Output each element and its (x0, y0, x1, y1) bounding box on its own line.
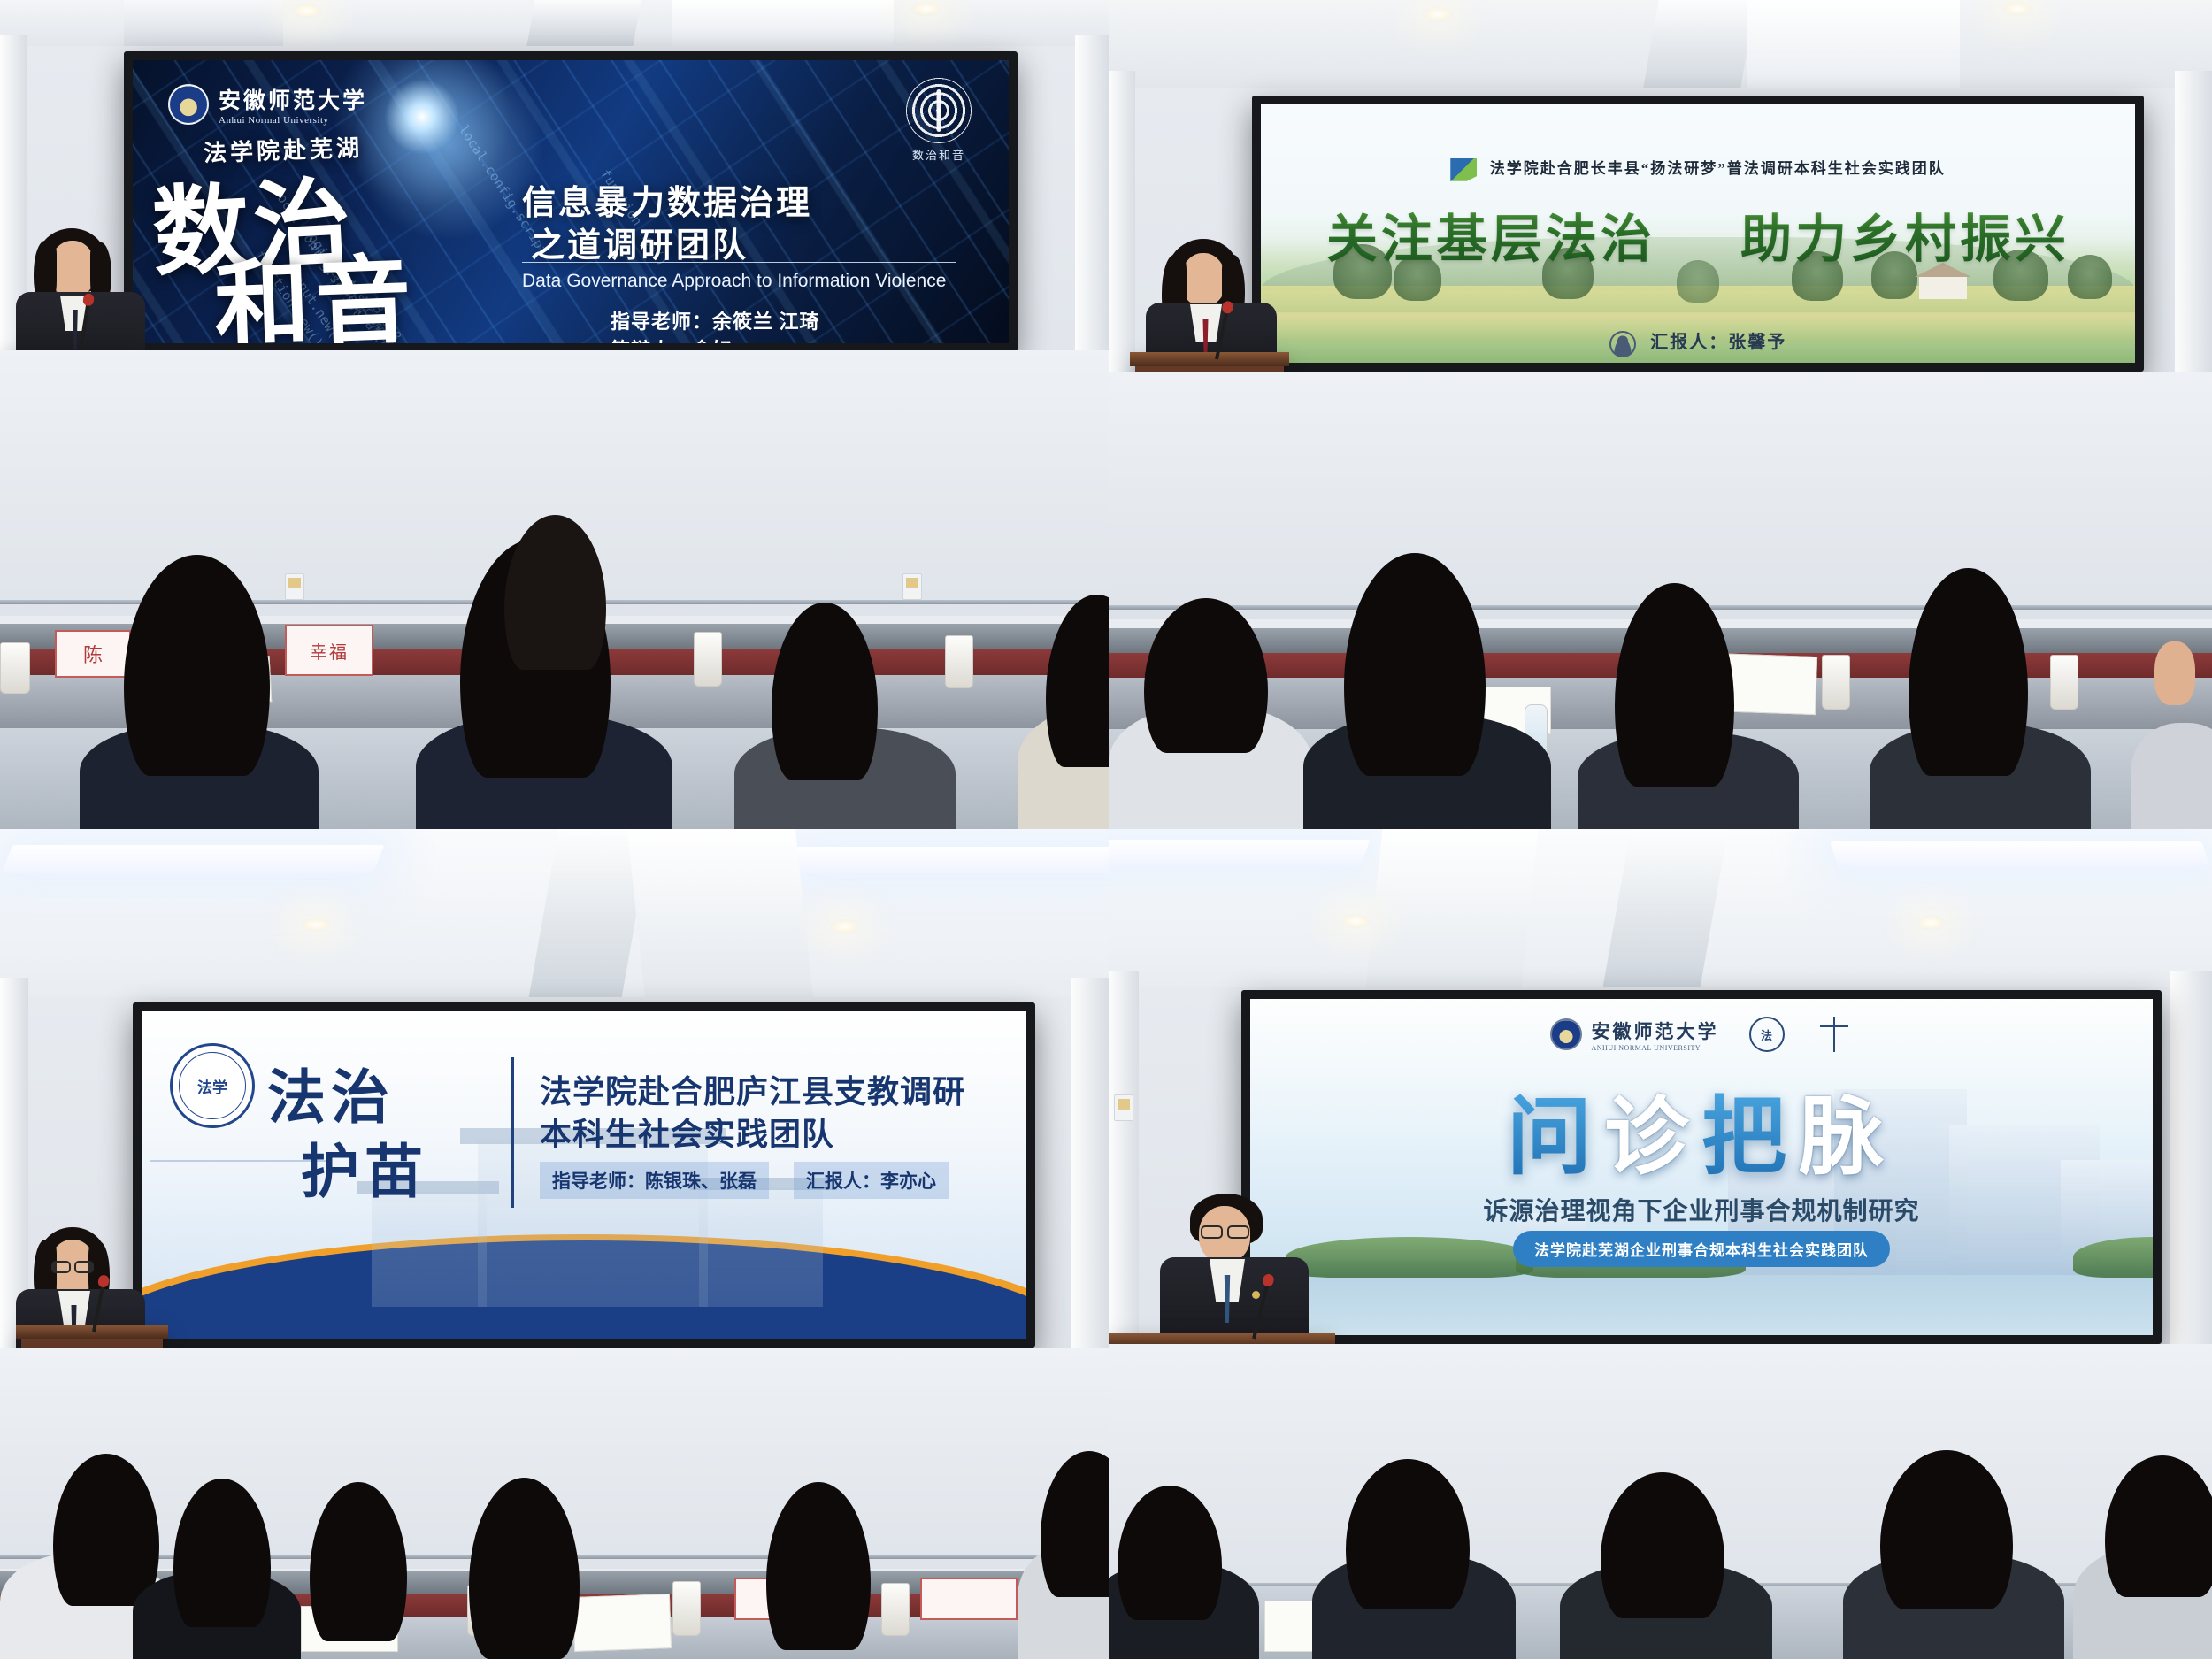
slide-data-governance: local.config.script login.credential.get… (133, 60, 1009, 343)
audience-head (1880, 1450, 2013, 1609)
screen-bezel (1250, 990, 2153, 999)
ceiling-beam-left (124, 0, 283, 46)
glasses-icon (1227, 1225, 1249, 1239)
slide-legal-protection: 法学 法治 护苗 法学院赴合肥庐江县支教调研 本科生社会实践团队 指导老师：陈银… (142, 1011, 1026, 1339)
glasses-icon (51, 1261, 71, 1273)
audience-shoulders (2131, 723, 2212, 829)
panel-top-right: Student presenting at podium in front of… (1109, 0, 2212, 829)
downlight-icon (1916, 916, 1946, 930)
slide-presenter: 答辩人：俞好 (611, 334, 733, 352)
glasses-icon (1201, 1225, 1223, 1239)
presentation-screen: 安徽师范大学 ANHUI NORMAL UNIVERSITY 法 问诊把脉 诉源… (1241, 990, 2162, 1344)
ceiling-beam-right (1747, 0, 1960, 96)
slide-logo-row: 安徽师范大学 ANHUI NORMAL UNIVERSITY 法 (1250, 1015, 2153, 1054)
ceiling-beam-right (627, 829, 813, 999)
law-school-seal-icon: 法学 (170, 1043, 255, 1128)
program-logo: 数治和音 (906, 78, 972, 163)
team-flag-icon (1450, 158, 1477, 181)
ceiling-light-panel (1830, 841, 2210, 868)
audience-row (0, 564, 1109, 829)
slide-advisor: 指导老师：陈银珠、张磊 (540, 1162, 769, 1199)
audience-row (0, 1429, 1109, 1659)
slide-hero-char-2: 诊 (1604, 1087, 1701, 1187)
downlight-icon (830, 919, 860, 933)
glasses-icon (74, 1261, 94, 1273)
university-name-en: Anhui Normal University (219, 115, 367, 126)
ceiling-beam-center (526, 0, 641, 46)
raised-hand (2154, 641, 2195, 705)
audience-row (1109, 1447, 2212, 1659)
slide-team-chip: 法学院赴芜湖企业刑事合规本科生社会实践团队 (1513, 1231, 1890, 1267)
audience-head (1615, 583, 1734, 787)
screen-bezel (133, 51, 1009, 60)
screen-bezel (1261, 96, 2135, 104)
university-name-cn: 安徽师范大学 (219, 83, 367, 115)
slide-subject-line-2: 之道调研团队 (531, 218, 749, 266)
panel-top-left: Student presenting at podium in front of… (0, 0, 1109, 829)
ceiling-beam-left (1366, 829, 1539, 988)
slide-subtitle: 诉源治理视角下企业刑事合规机制研究 (1250, 1192, 2153, 1227)
slide-compliance-research: 安徽师范大学 ANHUI NORMAL UNIVERSITY 法 问诊把脉 诉源… (1250, 999, 2153, 1335)
panel-bottom-left: Student presenting at podium in front of… (0, 829, 1109, 1659)
presentation-screen: local.config.script login.credential.get… (124, 51, 1018, 352)
slide-hero-line-2: 护苗 (301, 1125, 428, 1210)
slide-presenter: 汇报人：李亦心 (794, 1162, 949, 1199)
ceiling-beam-right (672, 0, 894, 46)
slide-rural-rule-of-law: 法学院赴合肥长丰县“扬法研梦”普法调研本科生社会实践团队 关注基层法治 助力乡村… (1261, 104, 2135, 363)
university-logo: 安徽师范大学 ANHUI NORMAL UNIVERSITY (1550, 1018, 1719, 1052)
slide-hero-char-4: 脉 (1799, 1087, 1896, 1187)
audience-head (1909, 568, 2028, 776)
ceiling-beam-center (1641, 0, 1755, 97)
audience-row (1109, 564, 2212, 829)
university-name-en: ANHUI NORMAL UNIVERSITY (1592, 1044, 1719, 1052)
audience-head (1346, 1459, 1470, 1609)
audience-head (2105, 1455, 2212, 1597)
audience-head (1041, 1451, 1109, 1597)
university-seal-icon (168, 84, 209, 125)
ceiling-light-panel (793, 847, 1109, 873)
audience-head (310, 1482, 407, 1641)
building-block (699, 1188, 823, 1307)
audience-head (469, 1478, 580, 1659)
slide-hero-right: 助力乡村振兴 (1740, 197, 2070, 272)
slide-team-line: 法学院赴合肥长丰县“扬法研梦”普法调研本科生社会实践团队 (1261, 156, 2135, 181)
slide-hero: 关注基层法治 助力乡村振兴 (1261, 197, 2135, 272)
downlight-icon (1423, 7, 1453, 21)
downlight-icon (1340, 914, 1371, 928)
slide-hero-left: 关注基层法治 (1326, 197, 1655, 272)
presentation-screen: 法学 法治 护苗 法学院赴合肥庐江县支教调研 本科生社会实践团队 指导老师：陈银… (133, 1002, 1035, 1348)
ceiling-light-panel (2, 845, 385, 873)
university-name-cn: 安徽师范大学 (1592, 1018, 1719, 1044)
photo-collage: Student presenting at podium in front of… (0, 0, 2212, 1659)
downlight-icon (301, 918, 331, 932)
lapel-pin-icon (1252, 1291, 1260, 1299)
slide-hero-char-1: 问 (1507, 1087, 1604, 1187)
audience-head (173, 1479, 271, 1627)
university-seal-icon (1550, 1018, 1582, 1050)
slide-team-chip-wrap: 法学院赴芜湖企业刑事合规本科生社会实践团队 (1250, 1231, 2153, 1267)
program-logo-label: 数治和音 (906, 146, 972, 163)
slide-title-line-1: 法学院赴合肥庐江县支教调研 (540, 1066, 965, 1112)
slide-credits: 指导老师：陈银珠、张磊 汇报人：李亦心 (540, 1162, 949, 1199)
slide-team-text: 法学院赴合肥长丰县“扬法研梦”普法调研本科生社会实践团队 (1490, 160, 1946, 177)
slide-title-line-2: 本科生社会实践团队 (540, 1109, 834, 1155)
person-icon (1609, 331, 1636, 357)
slide-presenter: 汇报人：张馨予 (1650, 333, 1786, 352)
audience-head (1046, 595, 1109, 767)
scales-of-justice-icon (1815, 1015, 1854, 1054)
panel-bottom-right: Student presenting at podium in front of… (1109, 829, 2212, 1659)
presentation-screen: 法学院赴合肥长丰县“扬法研梦”普法调研本科生社会实践团队 关注基层法治 助力乡村… (1252, 96, 2144, 372)
slide-presenter-row: 汇报人：张馨予 (1261, 327, 2135, 357)
downlight-icon (2002, 2, 2032, 16)
slide-hero: 问诊把脉 (1250, 1068, 2153, 1191)
slide-subject-line-1: 信息暴力数据治理 (522, 175, 812, 224)
wall-column-right (1071, 978, 1109, 1402)
law-circle-icon: 法 (1749, 1017, 1785, 1052)
audience-head (1344, 553, 1486, 776)
slide-vertical-divider (511, 1057, 514, 1208)
fingerprint-icon (906, 78, 972, 143)
audience-head (1118, 1486, 1222, 1620)
slide-english-subtitle: Data Governance Approach to Information … (522, 271, 964, 292)
presenter-head (1181, 253, 1225, 306)
slide-advisor: 指导老师：余筱兰 江琦 (611, 306, 820, 334)
slide-hero-line-2: 和音 (211, 223, 418, 352)
slide-hero-line-1: 法治 (267, 1050, 395, 1135)
downlight-icon (292, 4, 322, 18)
ceiling-light-panel (1109, 840, 1370, 866)
podium-top (1130, 352, 1289, 366)
audience-head (772, 603, 878, 780)
slide-divider (522, 262, 956, 263)
slide-hero-char-3: 把 (1701, 1087, 1799, 1187)
audience-head (766, 1482, 871, 1650)
audience-head (1144, 598, 1268, 753)
power-socket (1114, 1094, 1133, 1121)
law-seal-text: 法学 (197, 1075, 227, 1097)
audience-head (53, 1454, 159, 1606)
audience-head (1601, 1472, 1724, 1618)
cottage-icon (1919, 276, 1967, 299)
screen-bezel (142, 1002, 1026, 1011)
audience-head (124, 555, 270, 776)
university-logo: 安徽师范大学 Anhui Normal University (168, 83, 367, 126)
downlight-icon (911, 2, 941, 16)
